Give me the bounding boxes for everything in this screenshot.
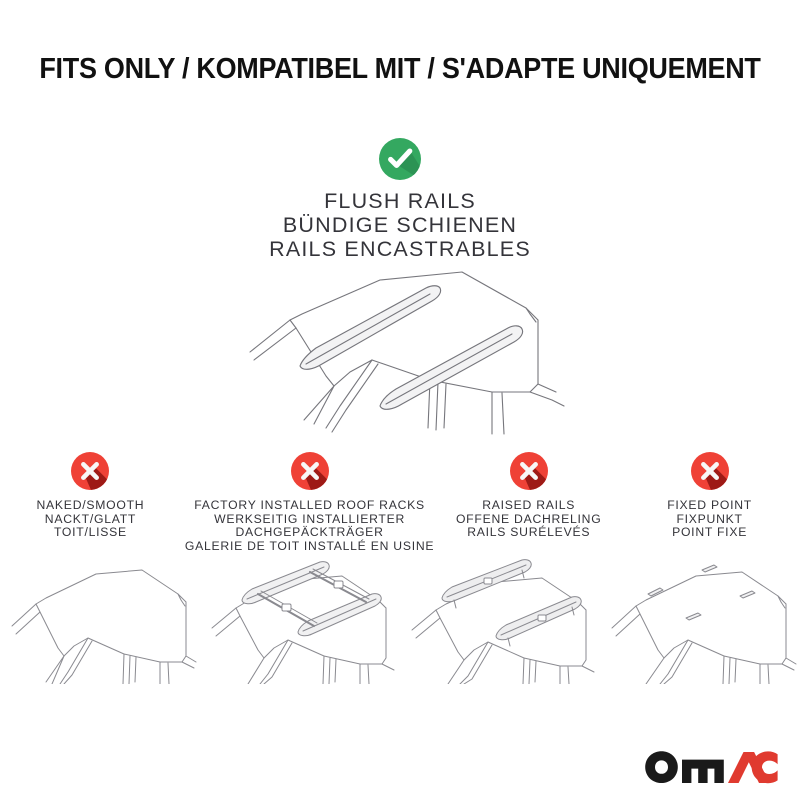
car-roof-fixed-point-illustration	[600, 556, 800, 686]
option-label-line: GALERIE DE TOIT INSTALLÉ EN USINE	[185, 540, 434, 554]
option-label-line: WERKSEITIG INSTALLIERTER	[185, 513, 434, 527]
option-labels: FACTORY INSTALLED ROOF RACKS WERKSEITIG …	[185, 499, 434, 553]
rejected-option-raised-rails: RAISED RAILS OFFENE DACHRELING RAILS SUR…	[438, 452, 619, 540]
approved-label-en: FLUSH RAILS	[0, 189, 800, 213]
page-title: FITS ONLY / KOMPATIBEL MIT / S'ADAPTE UN…	[28, 52, 772, 86]
omac-logo: OMAC	[644, 748, 778, 784]
option-label-line: NACKT/GLATT	[4, 513, 177, 527]
option-label-line: RAISED RAILS	[442, 499, 615, 513]
option-labels: NAKED/SMOOTH NACKT/GLATT TOIT/LISSE	[4, 499, 177, 540]
check-circle-icon	[379, 138, 421, 180]
rejected-option-naked-smooth: NAKED/SMOOTH NACKT/GLATT TOIT/LISSE	[0, 452, 181, 540]
car-roof-raised-rails-illustration	[400, 556, 600, 686]
compatibility-infographic: FITS ONLY / KOMPATIBEL MIT / S'ADAPTE UN…	[0, 0, 800, 800]
car-roof-flush-rails-illustration	[230, 268, 570, 438]
car-roof-factory-rack-illustration	[200, 556, 400, 686]
option-label-line: FIXPUNKT	[623, 513, 796, 527]
approved-label-de: BÜNDIGE SCHIENEN	[0, 213, 800, 237]
approved-labels: FLUSH RAILS BÜNDIGE SCHIENEN RAILS ENCAS…	[0, 189, 800, 261]
rejected-option-fixed-point: FIXED POINT FIXPUNKT POINT FIXE	[619, 452, 800, 540]
option-label-line: FACTORY INSTALLED ROOF RACKS	[185, 499, 434, 513]
x-circle-icon	[71, 452, 109, 490]
car-roof-naked-illustration	[0, 556, 200, 686]
rejected-illustrations-row	[0, 556, 800, 686]
rejected-option-factory-installed-roof-racks: FACTORY INSTALLED ROOF RACKS WERKSEITIG …	[181, 452, 438, 553]
option-label-line: FIXED POINT	[623, 499, 796, 513]
option-label-line: POINT FIXE	[623, 526, 796, 540]
option-label-line: TOIT/LISSE	[4, 526, 177, 540]
approved-option: FLUSH RAILS BÜNDIGE SCHIENEN RAILS ENCAS…	[0, 138, 800, 261]
approved-label-fr: RAILS ENCASTRABLES	[0, 237, 800, 261]
x-circle-icon	[291, 452, 329, 490]
option-labels: RAISED RAILS OFFENE DACHRELING RAILS SUR…	[442, 499, 615, 540]
option-label-line: DACHGEPÄCKTRÄGER	[185, 526, 434, 540]
option-labels: FIXED POINT FIXPUNKT POINT FIXE	[623, 499, 796, 540]
option-label-line: RAILS SURÉLEVÉS	[442, 526, 615, 540]
x-circle-icon	[510, 452, 548, 490]
x-circle-icon	[691, 452, 729, 490]
rejected-options-row: NAKED/SMOOTH NACKT/GLATT TOIT/LISSE	[0, 452, 800, 553]
option-label-line: NAKED/SMOOTH	[4, 499, 177, 513]
